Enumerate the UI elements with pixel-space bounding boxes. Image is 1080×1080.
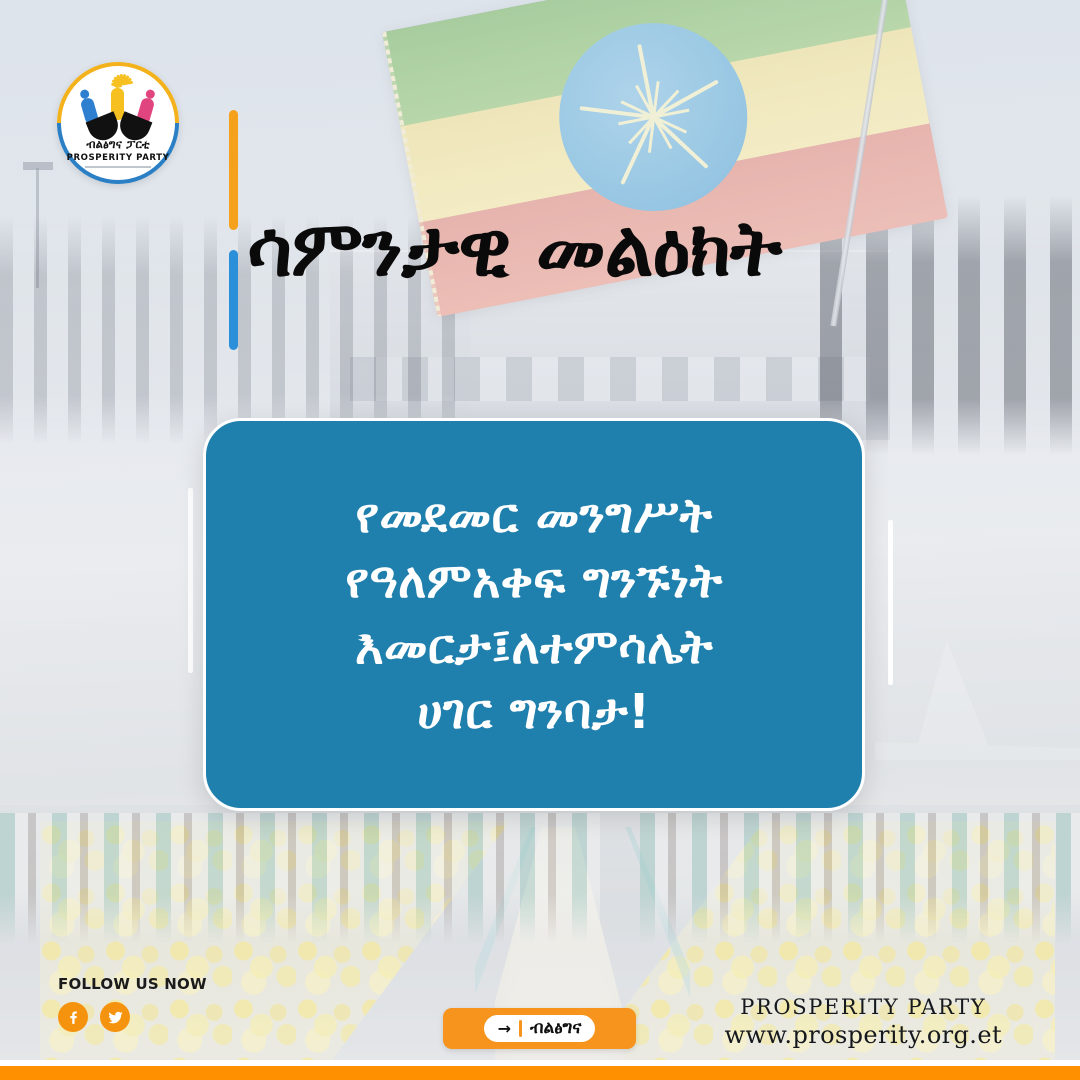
decorative-line-left [188,488,193,673]
prosperity-party-logo[interactable]: ብልፅግና ፓርቲ PROSPERITY PARTY [57,62,179,184]
cupped-hands-icon [89,116,149,140]
social-links [58,1002,207,1032]
twitter-icon[interactable] [100,1002,130,1032]
logo-divider [85,166,151,168]
arrow-right-icon: → [498,1021,511,1037]
brand-block: PROSPERITY PARTY www.prosperity.org.et [724,995,1002,1049]
message-line: የዓለምአቀፍ ግንኙነት [345,549,722,614]
page-title: ሳምንታዊ መልዕክት [247,210,947,291]
message-card: የመደመር መንግሥት የዓለምአቀፍ ግንኙነት እመርታ፤ለተምሳሌት ሀገ… [203,418,865,811]
decorative-line-right [888,520,893,685]
title-accent-blue [229,250,238,350]
cta-separator [519,1020,522,1037]
logo-figures-icon [81,82,155,134]
cta-label: ብልፅግና [530,1020,581,1037]
bottom-orange-bar [0,1066,1080,1080]
logo-english-name: PROSPERITY PARTY [67,153,170,163]
brand-name: PROSPERITY PARTY [724,995,1002,1019]
follow-us-block: FOLLOW US NOW [58,975,207,1032]
cta-button[interactable]: → ብልፅግና [443,1008,636,1049]
title-accent-orange [229,110,238,230]
follow-us-label: FOLLOW US NOW [58,975,207,993]
message-line: የመደመር መንግሥት [345,484,722,549]
facebook-icon[interactable] [58,1002,88,1032]
message-line: እመርታ፤ለተምሳሌት [345,615,722,680]
poster-root: ብልፅግና ፓርቲ PROSPERITY PARTY ሳምንታዊ መልዕክት የ… [0,0,1080,1080]
message-line: ሀገር ግንባታ! [345,680,722,745]
brand-website-url[interactable]: www.prosperity.org.et [724,1021,1002,1049]
message-card-text: የመደመር መንግሥት የዓለምአቀፍ ግንኙነት እመርታ፤ለተምሳሌት ሀገ… [311,484,756,745]
